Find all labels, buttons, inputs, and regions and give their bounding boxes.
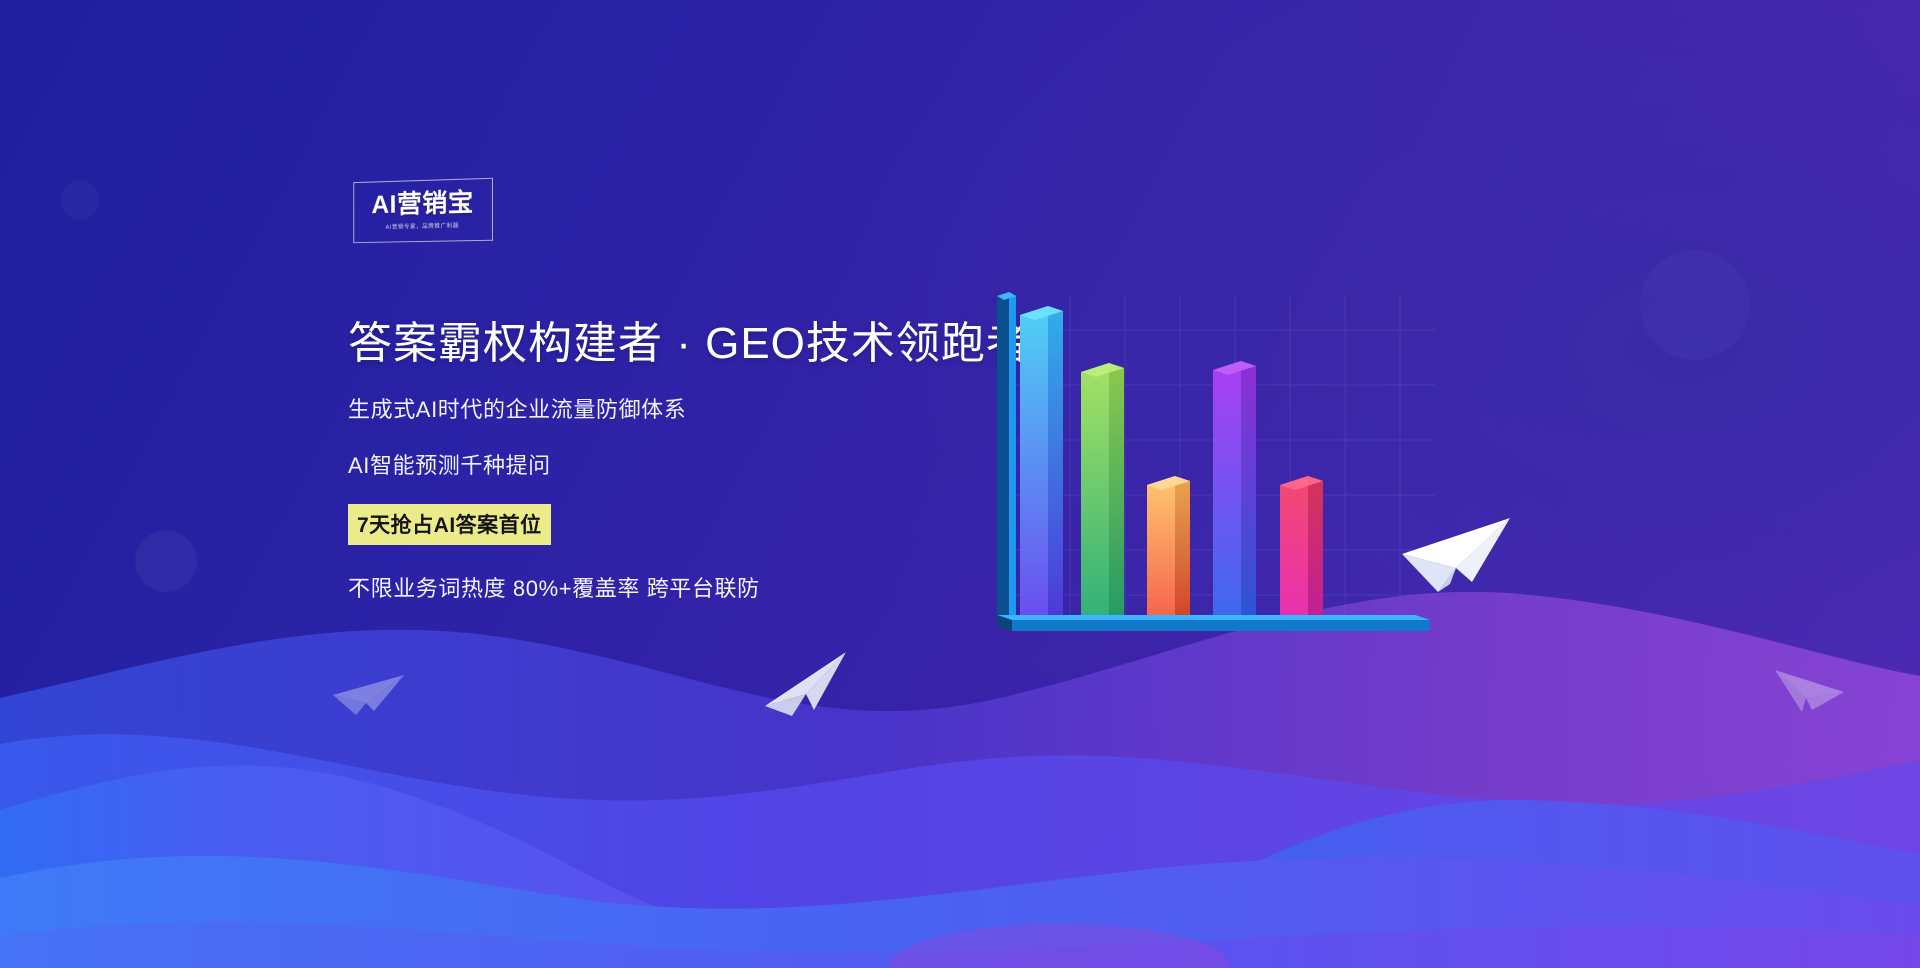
chart-bar-2 [1081, 363, 1124, 623]
hero-headline: 答案霸权构建者 · GEO技术领跑者 [348, 318, 1008, 370]
hero-subtitle-2: AI智能预测千种提问 [348, 448, 1008, 480]
chart-y-axis [997, 292, 1016, 626]
hero-highlight-badge: 7天抢占AI答案首位 [348, 504, 551, 545]
background-waves [0, 548, 1920, 968]
chart-bar-5 [1280, 476, 1323, 623]
chart-bar-3 [1147, 476, 1190, 623]
brand-logo-tagline: AI营销专家，品牌推广利器 [386, 221, 459, 231]
hero-banner: AI营销宝 AI营销专家，品牌推广利器 答案霸权构建者 · GEO技术领跑者 生… [0, 0, 1920, 968]
brand-logo-name: AI营销宝 [371, 191, 473, 219]
decorative-circle [60, 180, 100, 220]
bar-chart-illustration [975, 290, 1445, 680]
brand-logo[interactable]: AI营销宝 AI营销专家，品牌推广利器 [353, 178, 493, 243]
hero-subtitle-1: 生成式AI时代的企业流量防御体系 [348, 392, 1008, 424]
hero-subtitle-3: 不限业务词热度 80%+覆盖率 跨平台联防 [348, 571, 1008, 603]
chart-x-axis [997, 615, 1430, 631]
hero-copy: 答案霸权构建者 · GEO技术领跑者 生成式AI时代的企业流量防御体系 AI智能… [348, 318, 1008, 603]
chart-bar-1 [1020, 306, 1063, 623]
decorative-circle [1640, 250, 1750, 360]
chart-bar-4 [1213, 361, 1256, 623]
hero-highlight-row: 7天抢占AI答案首位 [348, 504, 1008, 545]
